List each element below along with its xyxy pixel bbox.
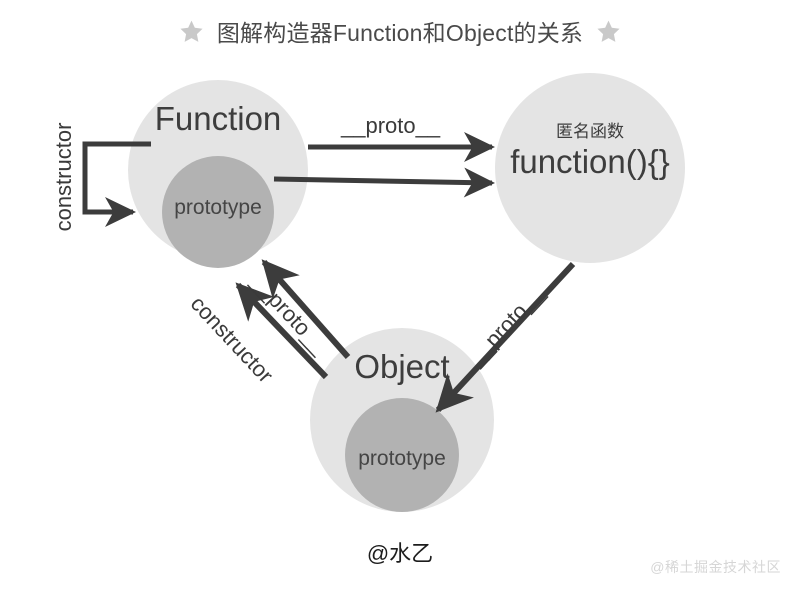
object-prototype-circle [345, 398, 459, 512]
watermark: @稀土掘金技术社区 [650, 557, 781, 577]
star-icon [596, 19, 621, 44]
star-icon [179, 19, 204, 44]
edge-object-constructor-arrow [238, 285, 326, 377]
function-prototype-circle [162, 156, 274, 268]
page-title: 图解构造器Function和Object的关系 [0, 14, 800, 48]
diagram-canvas: 图解构造器Function和Object的关系 Function prototy… [0, 0, 800, 591]
diagram-graphics [0, 0, 800, 591]
edge-anon-proto-arrow [438, 264, 573, 410]
anonymous-function-circle [495, 73, 685, 263]
page-title-text: 图解构造器Function和Object的关系 [217, 14, 583, 48]
edge-object-proto-arrow [264, 262, 348, 357]
